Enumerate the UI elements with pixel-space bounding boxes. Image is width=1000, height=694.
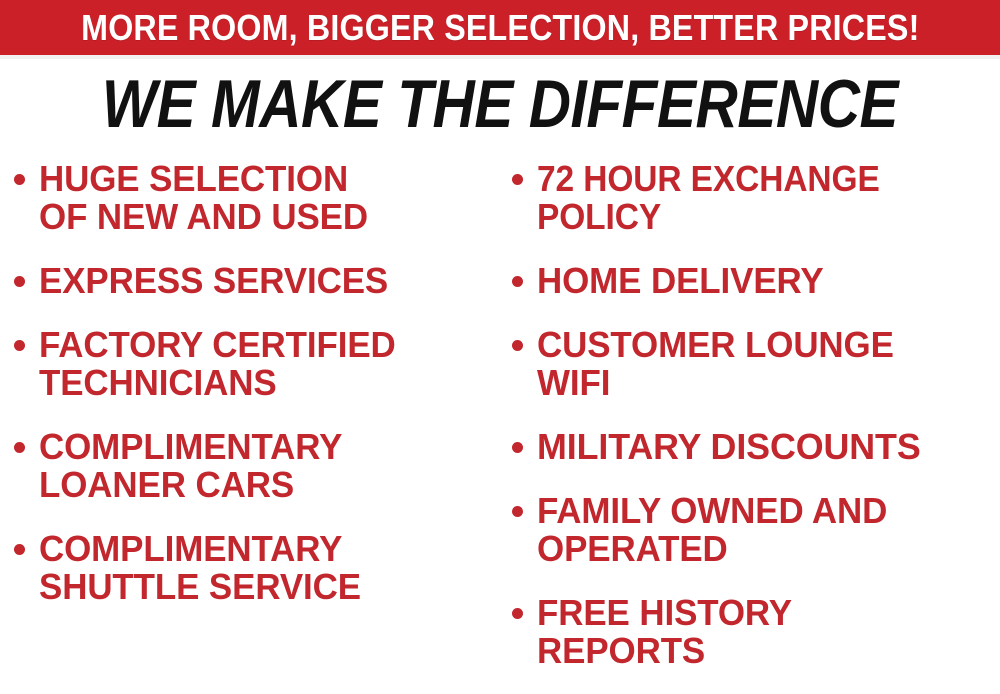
- bullet-dot-icon: [512, 340, 523, 351]
- list-item: FACTORY CERTIFIED TECHNICIANS: [14, 326, 492, 402]
- benefit-label-free-history-reports: FREE HISTORY REPORTS: [537, 594, 792, 670]
- benefit-label-factory-certified-technicians: FACTORY CERTIFIED TECHNICIANS: [39, 326, 396, 402]
- banner-headline-text: MORE ROOM, BIGGER SELECTION, BETTER PRIC…: [81, 10, 919, 46]
- benefit-label-military-discounts: MILITARY DISCOUNTS: [537, 428, 921, 466]
- banner-underline-divider: [0, 55, 1000, 59]
- bullet-dot-icon: [512, 276, 523, 287]
- dealership-benefits-advertisement: MORE ROOM, BIGGER SELECTION, BETTER PRIC…: [0, 0, 1000, 694]
- list-item: MILITARY DISCOUNTS: [512, 428, 1000, 466]
- benefit-label-complimentary-shuttle-service: COMPLIMENTARY SHUTTLE SERVICE: [39, 530, 361, 606]
- benefits-columns: HUGE SELECTION OF NEW AND USED EXPRESS S…: [0, 160, 1000, 694]
- bullet-dot-icon: [512, 506, 523, 517]
- bullet-dot-icon: [512, 608, 523, 619]
- list-item: FREE HISTORY REPORTS: [512, 594, 1000, 670]
- bullet-dot-icon: [14, 174, 25, 185]
- benefit-label-family-owned-and-operated: FAMILY OWNED AND OPERATED: [537, 492, 887, 568]
- bullet-dot-icon: [14, 442, 25, 453]
- list-item: HUGE SELECTION OF NEW AND USED: [14, 160, 492, 236]
- benefit-label-complimentary-loaner-cars: COMPLIMENTARY LOANER CARS: [39, 428, 342, 504]
- bullet-dot-icon: [14, 340, 25, 351]
- benefit-label-customer-lounge-wifi: CUSTOMER LOUNGE WIFI: [537, 326, 894, 402]
- list-item: HOME DELIVERY: [512, 262, 1000, 300]
- list-item: FAMILY OWNED AND OPERATED: [512, 492, 1000, 568]
- list-item: COMPLIMENTARY SHUTTLE SERVICE: [14, 530, 492, 606]
- bullet-dot-icon: [512, 442, 523, 453]
- list-item: CUSTOMER LOUNGE WIFI: [512, 326, 1000, 402]
- benefit-label-home-delivery: HOME DELIVERY: [537, 262, 824, 300]
- bullet-dot-icon: [14, 544, 25, 555]
- page-title: WE MAKE THE DIFFERENCE: [102, 70, 898, 138]
- list-item: EXPRESS SERVICES: [14, 262, 492, 300]
- headline-container: WE MAKE THE DIFFERENCE: [0, 68, 1000, 140]
- bullet-dot-icon: [512, 174, 523, 185]
- benefit-label-huge-selection: HUGE SELECTION OF NEW AND USED: [39, 160, 368, 236]
- benefit-label-72-hour-exchange-policy: 72 HOUR EXCHANGE POLICY: [537, 160, 880, 236]
- benefits-column-right: 72 HOUR EXCHANGE POLICY HOME DELIVERY CU…: [512, 160, 1000, 694]
- benefit-label-express-services: EXPRESS SERVICES: [39, 262, 388, 300]
- list-item: COMPLIMENTARY LOANER CARS: [14, 428, 492, 504]
- benefits-column-left: HUGE SELECTION OF NEW AND USED EXPRESS S…: [14, 160, 492, 632]
- top-banner: MORE ROOM, BIGGER SELECTION, BETTER PRIC…: [0, 0, 1000, 55]
- bullet-dot-icon: [14, 276, 25, 287]
- list-item: 72 HOUR EXCHANGE POLICY: [512, 160, 1000, 236]
